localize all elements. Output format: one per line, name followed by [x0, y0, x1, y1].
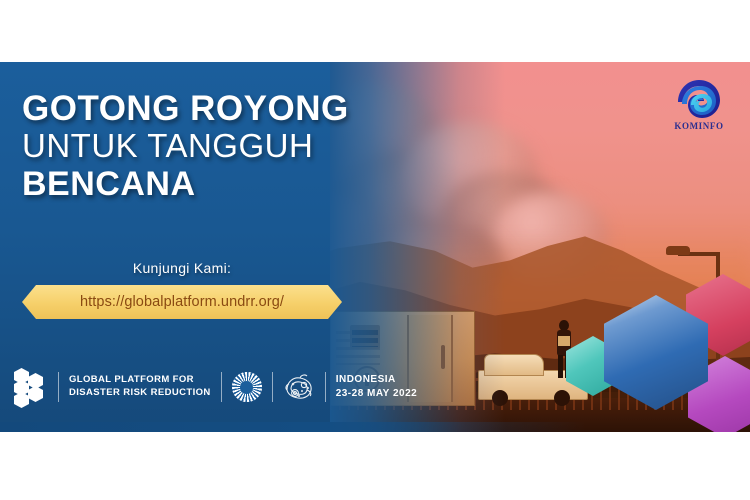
gpdrr-wordmark-line-2: DISASTER RISK REDUCTION — [69, 387, 211, 400]
visit-us-label: Kunjungi Kami: — [22, 260, 342, 276]
decorative-hexagon-cluster — [580, 272, 750, 432]
headline-block: GOTONG ROYONG UNTUK TANGGUH BENCANA — [22, 90, 442, 202]
kominfo-wordmark: KOMINFO — [666, 121, 732, 131]
kominfo-logo: KOMINFO — [666, 78, 732, 131]
event-location-dates: INDONESIA 23-28 MAY 2022 — [336, 373, 418, 402]
indonesia-batik-motif-icon — [283, 372, 315, 402]
gpdrr-wordmark-line-1: GLOBAL PLATFORM FOR — [69, 374, 211, 387]
gpdrr-wordmark: GLOBAL PLATFORM FOR DISASTER RISK REDUCT… — [69, 374, 211, 400]
url-chip[interactable]: https://globalplatform.undrr.org/ — [22, 285, 342, 319]
gpdrr-hexagon-logo-icon — [14, 368, 48, 406]
url-link[interactable]: https://globalplatform.undrr.org/ — [80, 294, 284, 310]
kominfo-wave-icon — [676, 78, 722, 120]
headline-line-3: BENCANA — [22, 166, 442, 202]
banner-page: KOMINFO GOTONG ROYONG UNTUK TANGGUH BENC… — [0, 0, 750, 500]
event-dates: 23-28 MAY 2022 — [336, 387, 418, 402]
logo-divider-3 — [272, 372, 273, 402]
street-lamp-head — [666, 246, 690, 255]
call-to-action-block: Kunjungi Kami: https://globalplatform.un… — [22, 260, 342, 319]
logo-divider-1 — [58, 372, 59, 402]
headline-line-1: GOTONG ROYONG — [22, 90, 442, 127]
headline-line-2: UNTUK TANGGUH — [22, 129, 442, 164]
logo-divider-4 — [325, 372, 326, 402]
gpdrr-campaign-banner: KOMINFO GOTONG ROYONG UNTUK TANGGUH BENC… — [0, 62, 750, 432]
partner-logo-bar: GLOBAL PLATFORM FOR DISASTER RISK REDUCT… — [14, 364, 417, 410]
logo-divider-2 — [221, 372, 222, 402]
event-country: INDONESIA — [336, 373, 418, 388]
undrr-circle-icon — [232, 372, 262, 402]
